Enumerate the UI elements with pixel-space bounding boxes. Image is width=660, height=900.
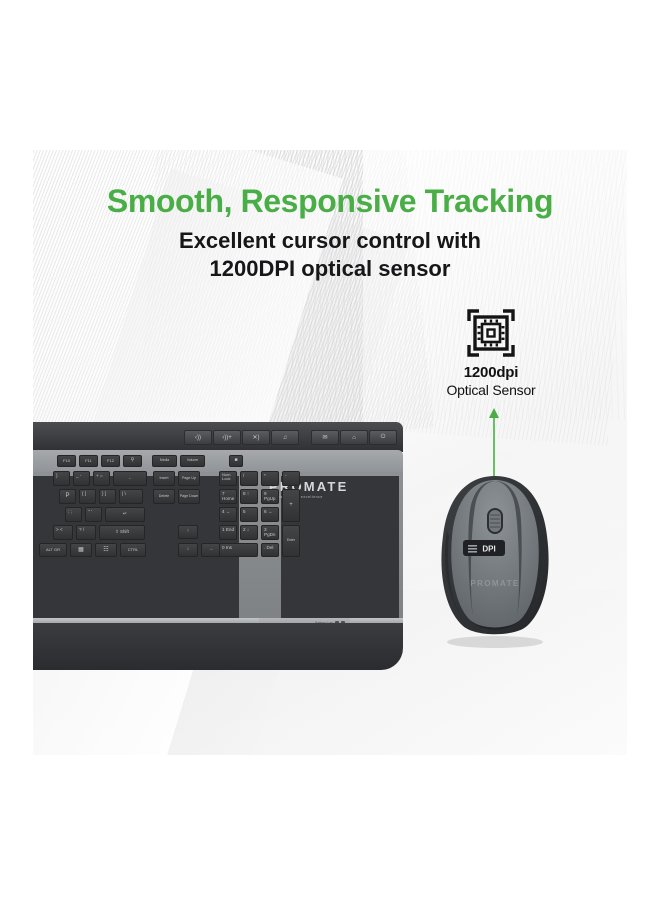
key-numpad-8: 8 ↑: [240, 489, 258, 504]
key-numpad-4: 4 ←: [219, 507, 237, 522]
sensor-dpi-label: 1200dpi: [431, 364, 551, 381]
key-arrow-down: ↓: [178, 543, 198, 557]
product-feature-image: Smooth, Responsive Tracking Excellent cu…: [0, 0, 660, 900]
mouse-brand-label: PROMATE: [470, 579, 519, 588]
key-numpad-5: 5: [240, 507, 258, 522]
key-f11: F11: [79, 455, 98, 467]
key-p: P: [59, 489, 76, 504]
key-numpad-enter: Enter: [282, 525, 300, 557]
key-shift-right: ⇧ Shift: [99, 525, 145, 540]
media-key-volume-down: ‹)): [184, 430, 212, 445]
keyboard-palm-rest: [33, 623, 403, 670]
key-number-0: ): [53, 471, 70, 486]
key-numpad-6: 6 →: [261, 507, 279, 522]
key-f12: F12: [101, 455, 120, 467]
key-insert: Insert: [153, 471, 175, 486]
subtitle-line-2: 1200DPI optical sensor: [33, 256, 627, 282]
key-alt-gr: ALT GR: [39, 543, 67, 557]
key-numpad-0: 0 Ins: [219, 543, 258, 557]
key-page-up: Page Up: [178, 471, 200, 486]
key-f10: F10: [57, 455, 76, 467]
key-quote: " ': [85, 507, 102, 522]
key-minus: _ -: [73, 471, 90, 486]
media-key-music: ♫: [271, 430, 299, 445]
content-panel: Smooth, Responsive Tracking Excellent cu…: [33, 150, 627, 755]
scroll-wheel: [487, 508, 503, 534]
sensor-callout: 1200dpi Optical Sensor: [431, 308, 551, 398]
key-windows: ▦: [70, 543, 92, 557]
key-ctrl-right: CTRL: [120, 543, 146, 557]
key-semicolon: : ;: [65, 507, 82, 522]
shortcut-key-power: ⏻: [369, 430, 397, 445]
key-numpad-multiply: *: [261, 471, 279, 486]
subtitle-line-1: Excellent cursor control with: [33, 228, 627, 254]
key-numpad-1: 1 End: [219, 525, 237, 540]
key-shortcut-media: Media: [152, 455, 177, 467]
key-shortcut-extra: ■: [229, 455, 243, 467]
key-bracket-right: } ]: [99, 489, 116, 504]
dpi-button: DPI: [463, 540, 505, 556]
key-numpad-9: 9 PgUp: [261, 489, 279, 504]
key-slash: ? /: [76, 525, 96, 540]
key-num-lock: Num Lock: [219, 471, 237, 486]
key-arrow-right: →: [201, 543, 221, 557]
mouse-product-image: DPI PROMATE: [425, 470, 565, 650]
key-numpad-minus: -: [282, 471, 300, 486]
media-key-volume-up: ‹))+: [213, 430, 241, 445]
keyboard-product-image: ‹)) ‹))+ ✕) ♫ ✉ ⌂ ⏻ PROMATE innovation a…: [33, 422, 403, 670]
key-numpad-plus: +: [282, 489, 300, 522]
key-numpad-7: 7 Home: [219, 489, 237, 504]
key-shortcut-volume: Volume: [180, 455, 205, 467]
key-angle: > <: [53, 525, 73, 540]
svg-text:DPI: DPI: [482, 545, 495, 554]
key-numpad-2: 2 ↓: [240, 525, 258, 540]
key-menu: ☷: [95, 543, 117, 557]
key-numpad-divide: /: [240, 471, 258, 486]
key-numpad-decimal: . Del: [261, 543, 279, 557]
key-numpad-3: 3 PgDn: [261, 525, 279, 540]
shortcut-key-home: ⌂: [340, 430, 368, 445]
key-shortcut-search: ⚲: [123, 455, 142, 467]
key-bracket-left: { [: [79, 489, 96, 504]
key-delete: Delete: [153, 489, 175, 504]
key-page-down: Page Down: [178, 489, 200, 504]
key-backslash: | \: [119, 489, 143, 504]
key-equals: + =: [93, 471, 110, 486]
key-arrow-up: ↑: [178, 525, 198, 539]
key-enter: ↵: [105, 507, 145, 522]
key-backspace: ←: [113, 471, 147, 486]
sensor-type-label: Optical Sensor: [431, 382, 551, 398]
page-title: Smooth, Responsive Tracking: [33, 183, 627, 220]
shortcut-key-email: ✉: [311, 430, 339, 445]
optical-sensor-icon: [431, 308, 551, 358]
media-key-mute: ✕): [242, 430, 270, 445]
